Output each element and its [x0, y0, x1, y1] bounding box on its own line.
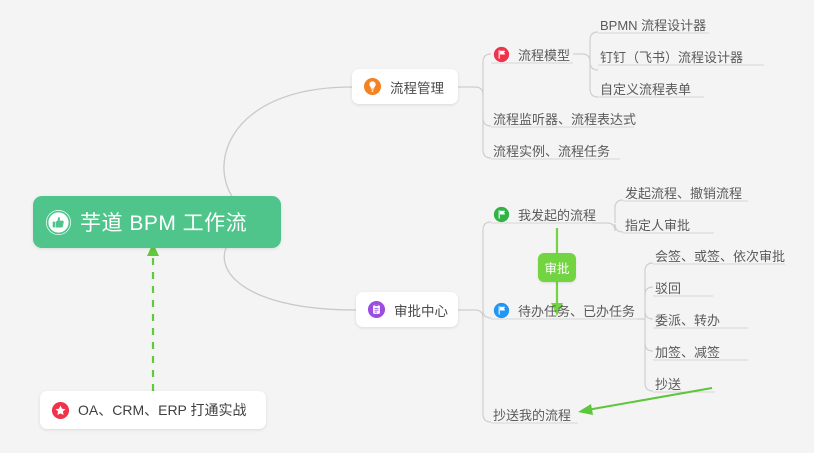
- leaf-flow-instance-task[interactable]: 流程实例、流程任务: [493, 137, 610, 163]
- root-node[interactable]: 芋道 BPM 工作流: [33, 196, 281, 248]
- mindmap-canvas: 芋道 BPM 工作流 流程管理 审批中心: [0, 0, 814, 453]
- leaf-flow-model[interactable]: 流程模型: [493, 41, 570, 67]
- leaf-label-cc: 抄送: [655, 374, 681, 393]
- footer-note-label: OA、CRM、ERP 打通实战: [78, 400, 247, 420]
- leaf-custom-flow-form[interactable]: 自定义流程表单: [600, 75, 691, 101]
- leaf-label-flows-cc-to-me: 抄送我的流程: [493, 405, 571, 424]
- leaf-dingtalk-feishu-designer[interactable]: 钉钉（飞书）流程设计器: [600, 43, 743, 69]
- branch-label-approval-center: 审批中心: [394, 300, 448, 320]
- leaf-label-delegate-transfer: 委派、转办: [655, 310, 720, 329]
- leaf-add-remove-sign[interactable]: 加签、减签: [655, 338, 720, 364]
- leaf-label-reject: 驳回: [655, 278, 681, 297]
- approval-step-label: 审批: [544, 258, 569, 277]
- clipboard-icon: [367, 300, 386, 319]
- approval-step-badge[interactable]: 审批: [538, 253, 576, 282]
- branch-label-flow-management: 流程管理: [390, 77, 444, 97]
- leaf-bpmn-designer[interactable]: BPMN 流程设计器: [600, 11, 706, 37]
- leaf-flows-cc-to-me[interactable]: 抄送我的流程: [493, 401, 571, 427]
- leaf-cc[interactable]: 抄送: [655, 370, 681, 396]
- leaf-label-dingtalk-feishu-designer: 钉钉（飞书）流程设计器: [600, 47, 743, 66]
- leaf-label-flow-model: 流程模型: [518, 45, 570, 64]
- leaf-delegate-transfer[interactable]: 委派、转办: [655, 306, 720, 332]
- leaf-label-bpmn-designer: BPMN 流程设计器: [600, 15, 706, 34]
- footer-link-arrow: [147, 243, 159, 391]
- leaf-assignee-approval[interactable]: 指定人审批: [625, 211, 690, 237]
- leaf-label-flow-listener-expression: 流程监听器、流程表达式: [493, 109, 636, 128]
- flag-icon: [493, 302, 510, 319]
- footer-note-node[interactable]: OA、CRM、ERP 打通实战: [40, 391, 266, 429]
- branch-node-flow-management[interactable]: 流程管理: [352, 69, 458, 104]
- branch-node-approval-center[interactable]: 审批中心: [356, 292, 458, 327]
- leaf-label-assignee-approval: 指定人审批: [625, 215, 690, 234]
- leaf-label-start-cancel-flow: 发起流程、撤销流程: [625, 183, 742, 202]
- leaf-label-todo-done-tasks: 待办任务、已办任务: [518, 301, 635, 320]
- leaf-label-custom-flow-form: 自定义流程表单: [600, 79, 691, 98]
- flag-icon: [493, 46, 510, 63]
- flag-icon: [493, 206, 510, 223]
- leaf-label-add-remove-sign: 加签、减签: [655, 342, 720, 361]
- leaf-todo-done-tasks[interactable]: 待办任务、已办任务: [493, 297, 635, 323]
- leaf-reject[interactable]: 驳回: [655, 274, 681, 300]
- star-icon: [51, 401, 70, 420]
- leaf-start-cancel-flow[interactable]: 发起流程、撤销流程: [625, 179, 742, 205]
- leaf-flow-listener-expression[interactable]: 流程监听器、流程表达式: [493, 105, 636, 131]
- leaf-label-flow-instance-task: 流程实例、流程任务: [493, 141, 610, 160]
- leaf-countersign-orsign-sequential[interactable]: 会签、或签、依次审批: [655, 242, 785, 268]
- thumbs-up-icon: [46, 210, 71, 235]
- lightbulb-icon: [363, 77, 382, 96]
- root-label: 芋道 BPM 工作流: [80, 207, 247, 237]
- leaf-label-countersign-orsign-sequential: 会签、或签、依次审批: [655, 246, 785, 265]
- leaf-label-my-initiated-flows: 我发起的流程: [518, 205, 596, 224]
- leaf-my-initiated-flows[interactable]: 我发起的流程: [493, 201, 596, 227]
- cc-link-arrow: [578, 388, 712, 415]
